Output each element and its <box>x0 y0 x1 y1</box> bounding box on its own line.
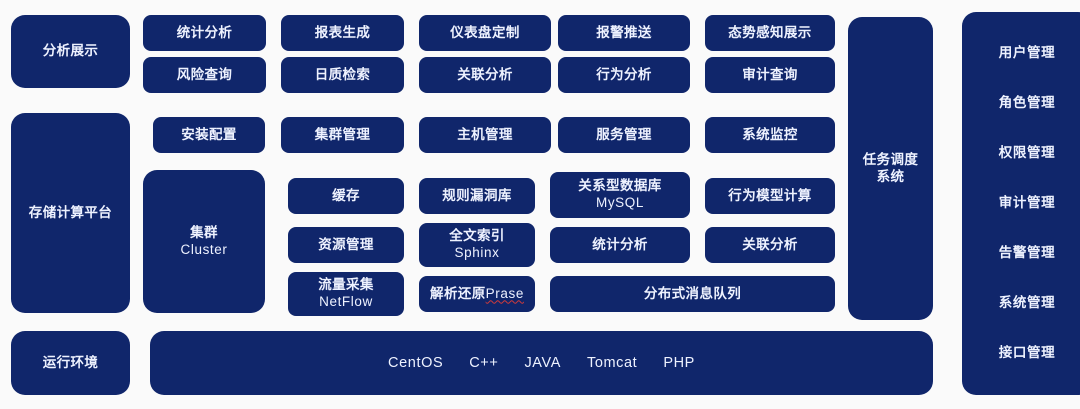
platform-cell-anzhuang-peizhi[interactable]: 安装配置 <box>153 117 265 153</box>
cell-label: 缓存 <box>332 188 360 205</box>
sphinx-label-line1: 全文索引 <box>449 228 505 245</box>
cell-label: 分布式消息队列 <box>644 286 741 303</box>
rdbms-label-line1: 关系型数据库 <box>578 178 661 195</box>
management-item-audit[interactable]: 审计管理 <box>999 195 1055 212</box>
analysis-cell-xingwei-fenxi[interactable]: 行为分析 <box>558 57 690 93</box>
runtime-item-centos: CentOS <box>388 354 443 372</box>
parse-label-en: Prase <box>486 286 524 301</box>
cell-label: 安装配置 <box>181 127 237 144</box>
runtime-stack-list: CentOS C++ JAVA Tomcat PHP <box>388 354 695 372</box>
platform-cell-guize-loudongku[interactable]: 规则漏洞库 <box>419 178 535 214</box>
cluster-label: 集群 Cluster <box>181 225 228 259</box>
parse-label: 解析还原Prase <box>430 286 524 303</box>
analysis-cell-tongji-fenxi[interactable]: 统计分析 <box>143 15 266 51</box>
cell-label: 统计分析 <box>177 25 233 42</box>
rdbms-label: 关系型数据库 MySQL <box>578 178 661 212</box>
analysis-cell-baobiao-shengcheng[interactable]: 报表生成 <box>281 15 404 51</box>
platform-cell-jiqun-guanli[interactable]: 集群管理 <box>281 117 404 153</box>
cell-label: 资源管理 <box>318 237 374 254</box>
platform-cell-fuwu-guanli[interactable]: 服务管理 <box>558 117 690 153</box>
analysis-cell-guanlian-fenxi[interactable]: 关联分析 <box>419 57 551 93</box>
netflow-label-line2: NetFlow <box>318 294 374 311</box>
platform-cell-fenbushi-xiaoxi-duilie[interactable]: 分布式消息队列 <box>550 276 835 312</box>
layer-label-runtime-text: 运行环境 <box>43 355 99 372</box>
layer-label-platform-text: 存储计算平台 <box>29 205 112 222</box>
sphinx-label-line2: Sphinx <box>449 245 505 262</box>
cell-label: 态势感知展示 <box>728 25 811 42</box>
task-scheduler-label-line1: 任务调度 <box>863 152 919 169</box>
runtime-item-java: JAVA <box>524 354 561 372</box>
platform-cell-zhuji-guanli[interactable]: 主机管理 <box>419 117 551 153</box>
cell-label: 关联分析 <box>457 67 513 84</box>
cluster-label-line1: 集群 <box>181 225 228 242</box>
platform-cell-tongji-fenxi[interactable]: 统计分析 <box>550 227 690 263</box>
sphinx-label: 全文索引 Sphinx <box>449 228 505 262</box>
layer-label-analysis[interactable]: 分析展示 <box>11 15 130 88</box>
netflow-label-line1: 流量采集 <box>318 277 374 294</box>
platform-cell-xingwei-moxing-jisuan[interactable]: 行为模型计算 <box>705 178 835 214</box>
analysis-cell-yibiaopan-dingzhi[interactable]: 仪表盘定制 <box>419 15 551 51</box>
layer-label-platform[interactable]: 存储计算平台 <box>11 113 130 313</box>
platform-cell-cluster[interactable]: 集群 Cluster <box>143 170 265 313</box>
analysis-cell-fengxian-chaxun[interactable]: 风险查询 <box>143 57 266 93</box>
cell-label: 行为模型计算 <box>728 188 811 205</box>
layer-label-analysis-text: 分析展示 <box>43 43 99 60</box>
platform-cell-guanlian-fenxi[interactable]: 关联分析 <box>705 227 835 263</box>
cell-label: 服务管理 <box>596 127 652 144</box>
layer-label-runtime[interactable]: 运行环境 <box>11 331 130 395</box>
parse-label-cn: 解析还原 <box>430 286 486 301</box>
cell-label: 报表生成 <box>315 25 371 42</box>
platform-cell-liuliang-caiji-netflow[interactable]: 流量采集 NetFlow <box>288 272 404 316</box>
architecture-diagram: 分析展示 存储计算平台 运行环境 统计分析 报表生成 仪表盘定制 报警推送 态势… <box>0 0 1080 409</box>
cluster-label-line2: Cluster <box>181 242 228 259</box>
platform-cell-huancun[interactable]: 缓存 <box>288 178 404 214</box>
analysis-cell-shenji-chaxun[interactable]: 审计查询 <box>705 57 835 93</box>
cell-label: 审计查询 <box>742 67 798 84</box>
platform-cell-quanwen-suoyin-sphinx[interactable]: 全文索引 Sphinx <box>419 223 535 267</box>
cell-label: 风险查询 <box>177 67 233 84</box>
analysis-cell-baojing-tuisong[interactable]: 报警推送 <box>558 15 690 51</box>
cell-label: 行为分析 <box>596 67 652 84</box>
management-item-role[interactable]: 角色管理 <box>999 95 1055 112</box>
analysis-cell-rizhi-jiansuo[interactable]: 日质检索 <box>281 57 404 93</box>
runtime-item-php: PHP <box>663 354 695 372</box>
cell-label: 关联分析 <box>742 237 798 254</box>
cell-label: 集群管理 <box>315 127 371 144</box>
platform-cell-jiexi-huanyuan-prase[interactable]: 解析还原Prase <box>419 276 535 312</box>
runtime-stack-bar[interactable]: CentOS C++ JAVA Tomcat PHP <box>150 331 933 395</box>
cell-label: 主机管理 <box>457 127 513 144</box>
platform-cell-ziyuan-guanli[interactable]: 资源管理 <box>288 227 404 263</box>
cell-label: 报警推送 <box>596 25 652 42</box>
analysis-cell-taishi-ganzhi[interactable]: 态势感知展示 <box>705 15 835 51</box>
management-item-user[interactable]: 用户管理 <box>999 45 1055 62</box>
management-item-interface[interactable]: 接口管理 <box>999 345 1055 362</box>
cell-label: 统计分析 <box>592 237 648 254</box>
task-scheduler-label-line2: 系统 <box>863 169 919 186</box>
management-item-system[interactable]: 系统管理 <box>999 295 1055 312</box>
netflow-label: 流量采集 NetFlow <box>318 277 374 311</box>
rdbms-label-line2: MySQL <box>578 195 661 212</box>
task-scheduler-label: 任务调度 系统 <box>863 152 919 186</box>
management-item-permission[interactable]: 权限管理 <box>999 145 1055 162</box>
management-item-alarm[interactable]: 告警管理 <box>999 245 1055 262</box>
task-scheduler-column[interactable]: 任务调度 系统 <box>848 17 933 320</box>
runtime-item-cpp: C++ <box>469 354 498 372</box>
platform-cell-xitong-jiankong[interactable]: 系统监控 <box>705 117 835 153</box>
management-column[interactable]: 用户管理 角色管理 权限管理 审计管理 告警管理 系统管理 接口管理 <box>962 12 1080 395</box>
cell-label: 系统监控 <box>742 127 798 144</box>
runtime-item-tomcat: Tomcat <box>587 354 637 372</box>
cell-label: 规则漏洞库 <box>442 188 512 205</box>
cell-label: 仪表盘定制 <box>450 25 520 42</box>
cell-label: 日质检索 <box>315 67 371 84</box>
platform-cell-guanxixing-shujuku-mysql[interactable]: 关系型数据库 MySQL <box>550 172 690 218</box>
